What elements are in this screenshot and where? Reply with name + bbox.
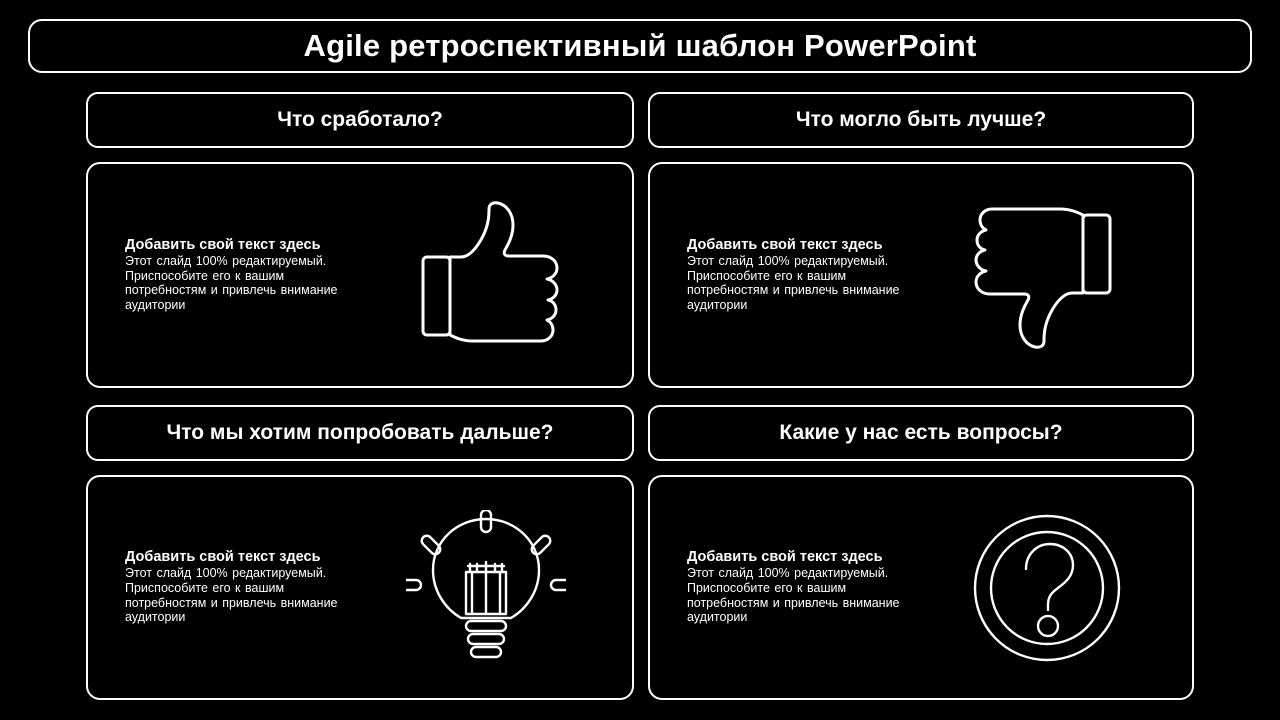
quadrant-body-text: Этот слайд 100% редактируемый. Приспособ…	[687, 566, 902, 625]
quadrant-text-block: Добавить свой текст здесь Этот слайд 100…	[125, 550, 340, 625]
quadrant-icon-slot	[902, 200, 1192, 350]
quadrant-body-text: Этот слайд 100% редактируемый. Приспособ…	[687, 254, 902, 313]
quadrant-card-what-worked[interactable]: Добавить свой текст здесь Этот слайд 100…	[86, 162, 634, 388]
quadrant-header-label: Что могло быть лучше?	[796, 108, 1046, 132]
question-mark-circle-icon	[971, 512, 1123, 664]
quadrant-card-what-could-be-better[interactable]: Добавить свой текст здесь Этот слайд 100…	[648, 162, 1194, 388]
quadrant-card-what-to-try-next[interactable]: Добавить свой текст здесь Этот слайд 100…	[86, 475, 634, 700]
retrospective-slide: Agile ретроспективный шаблон PowerPoint …	[0, 0, 1280, 720]
lightbulb-icon	[406, 510, 566, 666]
quadrant-body-text: Этот слайд 100% редактируемый. Приспособ…	[125, 566, 340, 625]
quadrant-lead-text: Добавить свой текст здесь	[125, 238, 340, 253]
quadrant-header-what-could-be-better[interactable]: Что могло быть лучше?	[648, 92, 1194, 148]
quadrant-header-what-questions[interactable]: Какие у нас есть вопросы?	[648, 405, 1194, 461]
thumbs-down-icon	[962, 200, 1132, 350]
quadrant-header-label: Что сработало?	[277, 108, 443, 132]
quadrant-header-what-worked[interactable]: Что сработало?	[86, 92, 634, 148]
quadrant-card-what-questions[interactable]: Добавить свой текст здесь Этот слайд 100…	[648, 475, 1194, 700]
quadrant-header-what-to-try-next[interactable]: Что мы хотим попробовать дальше?	[86, 405, 634, 461]
quadrant-header-label: Что мы хотим попробовать дальше?	[166, 421, 553, 445]
quadrant-lead-text: Добавить свой текст здесь	[125, 550, 340, 565]
quadrant-header-label: Какие у нас есть вопросы?	[779, 421, 1062, 445]
quadrant-text-block: Добавить свой текст здесь Этот слайд 100…	[125, 238, 340, 313]
quadrant-icon-slot	[340, 200, 632, 350]
quadrant-icon-slot	[902, 512, 1192, 664]
quadrant-lead-text: Добавить свой текст здесь	[687, 550, 902, 565]
slide-title-bar: Agile ретроспективный шаблон PowerPoint	[28, 19, 1252, 73]
quadrant-text-block: Добавить свой текст здесь Этот слайд 100…	[687, 550, 902, 625]
thumbs-up-icon	[401, 200, 571, 350]
quadrant-text-block: Добавить свой текст здесь Этот слайд 100…	[687, 238, 902, 313]
page-title: Agile ретроспективный шаблон PowerPoint	[303, 28, 976, 64]
quadrant-icon-slot	[340, 510, 632, 666]
quadrant-lead-text: Добавить свой текст здесь	[687, 238, 902, 253]
quadrant-body-text: Этот слайд 100% редактируемый. Приспособ…	[125, 254, 340, 313]
